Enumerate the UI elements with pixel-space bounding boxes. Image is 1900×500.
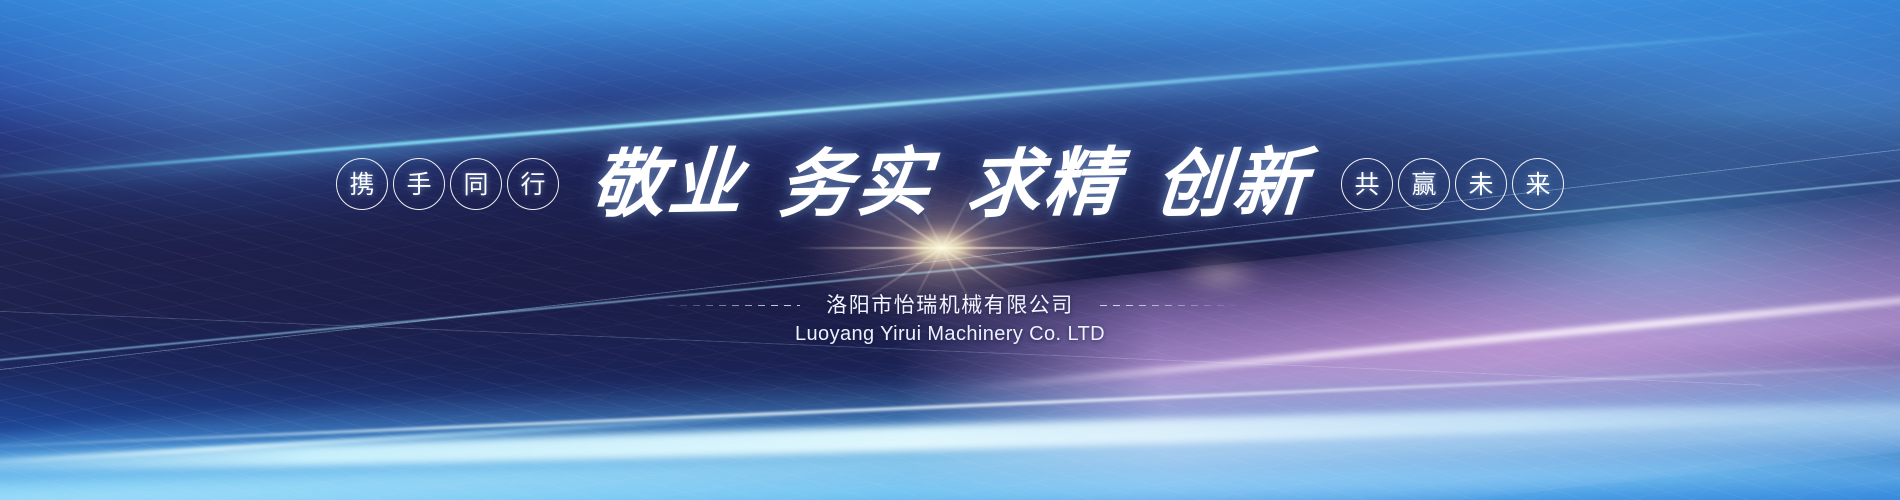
banner-content: 携 手 同 行 敬业 务实 求精 创新 共 赢 未 来 洛阳市怡瑞机械有限公司 — [0, 0, 1900, 500]
main-slogan: 敬业 务实 求精 创新 — [591, 147, 1309, 221]
corporate-banner: 携 手 同 行 敬业 务实 求精 创新 共 赢 未 来 洛阳市怡瑞机械有限公司 — [0, 0, 1900, 500]
circled-char-xing: 行 — [507, 158, 559, 210]
dashed-rule-left — [654, 305, 800, 306]
company-name-en: Luoyang Yirui Machinery Co. LTD — [795, 322, 1105, 347]
circled-char-shou: 手 — [393, 158, 445, 210]
slogan-word-jingye: 敬业 — [588, 146, 747, 223]
circled-char-lai: 来 — [1512, 158, 1564, 210]
dashed-rule-right — [1100, 305, 1246, 306]
left-circled-motto: 携 手 同 行 — [336, 158, 559, 210]
circled-char-tong: 同 — [450, 158, 502, 210]
circled-char-gong: 共 — [1341, 158, 1393, 210]
slogan-word-chuangxin: 创新 — [1152, 146, 1311, 223]
slogan-row: 携 手 同 行 敬业 务实 求精 创新 共 赢 未 来 — [0, 132, 1900, 236]
company-name-cn: 洛阳市怡瑞机械有限公司 — [826, 292, 1074, 318]
circled-char-wei: 未 — [1455, 158, 1507, 210]
right-circled-motto: 共 赢 未 来 — [1341, 158, 1564, 210]
company-name-row: 洛阳市怡瑞机械有限公司 — [0, 292, 1900, 318]
slogan-word-qiujing: 求精 — [964, 146, 1123, 223]
circled-char-ying: 赢 — [1398, 158, 1450, 210]
company-block: 洛阳市怡瑞机械有限公司 Luoyang Yirui Machinery Co. … — [0, 292, 1900, 347]
circled-char-xie: 携 — [336, 158, 388, 210]
slogan-word-wushi: 务实 — [776, 146, 935, 223]
